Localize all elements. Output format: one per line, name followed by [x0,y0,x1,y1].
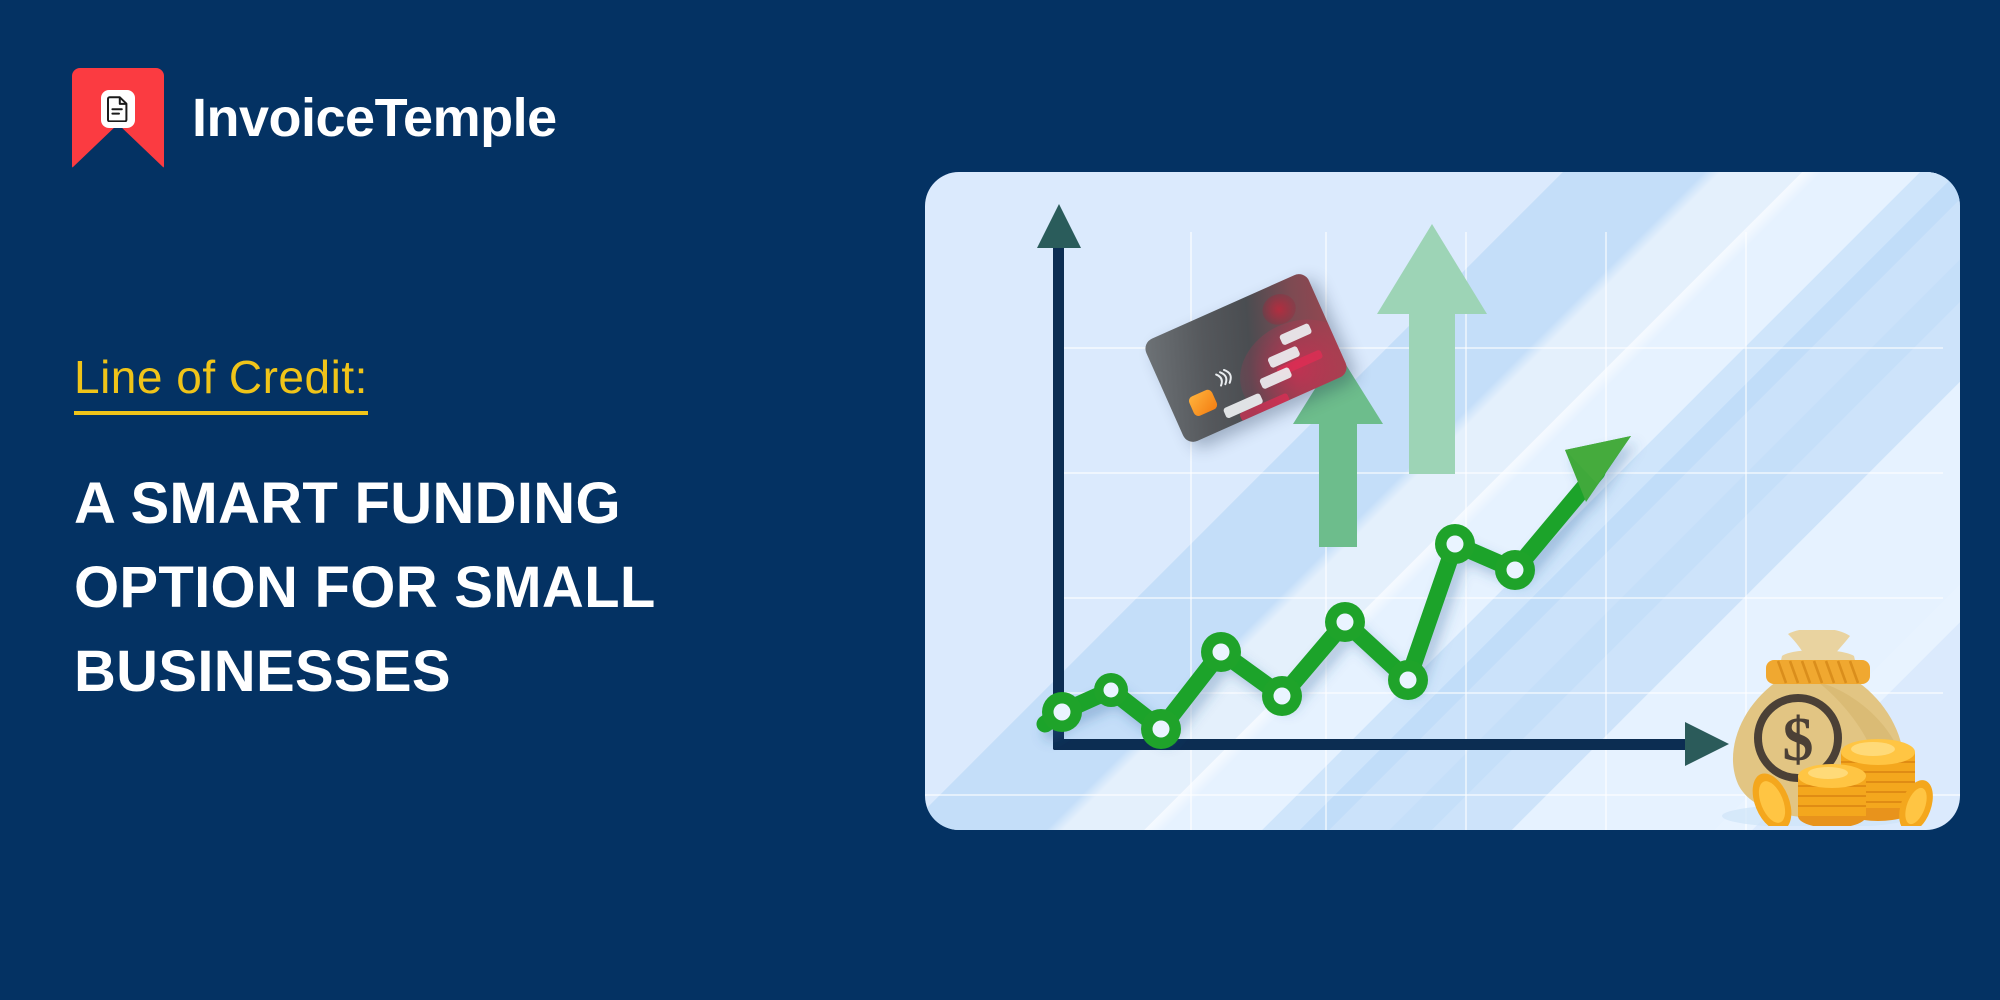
contactless-icon [1210,364,1241,398]
headline-line-2: OPTION FOR SMALL [74,546,794,630]
document-glyph [101,90,135,128]
chart-series [1045,436,1631,729]
chart-markers [1042,524,1535,749]
illustration-card: $ [925,172,1960,830]
brand-name: InvoiceTemple [192,91,557,145]
svg-text:$: $ [1783,706,1814,774]
poster-canvas: InvoiceTemple Line of Credit: A SMART FU… [0,0,2000,1000]
card-chip-icon [1187,388,1218,417]
brand-lockup: InvoiceTemple [72,68,557,168]
money-bag: $ [1710,630,1938,826]
page-title: A SMART FUNDING OPTION FOR SMALL BUSINES… [74,462,794,714]
headline-line-3: BUSINESSES [74,630,794,714]
eyebrow-label: Line of Credit: [74,352,368,415]
document-bookmark-icon [72,68,164,168]
headline-line-1: A SMART FUNDING [74,462,794,546]
